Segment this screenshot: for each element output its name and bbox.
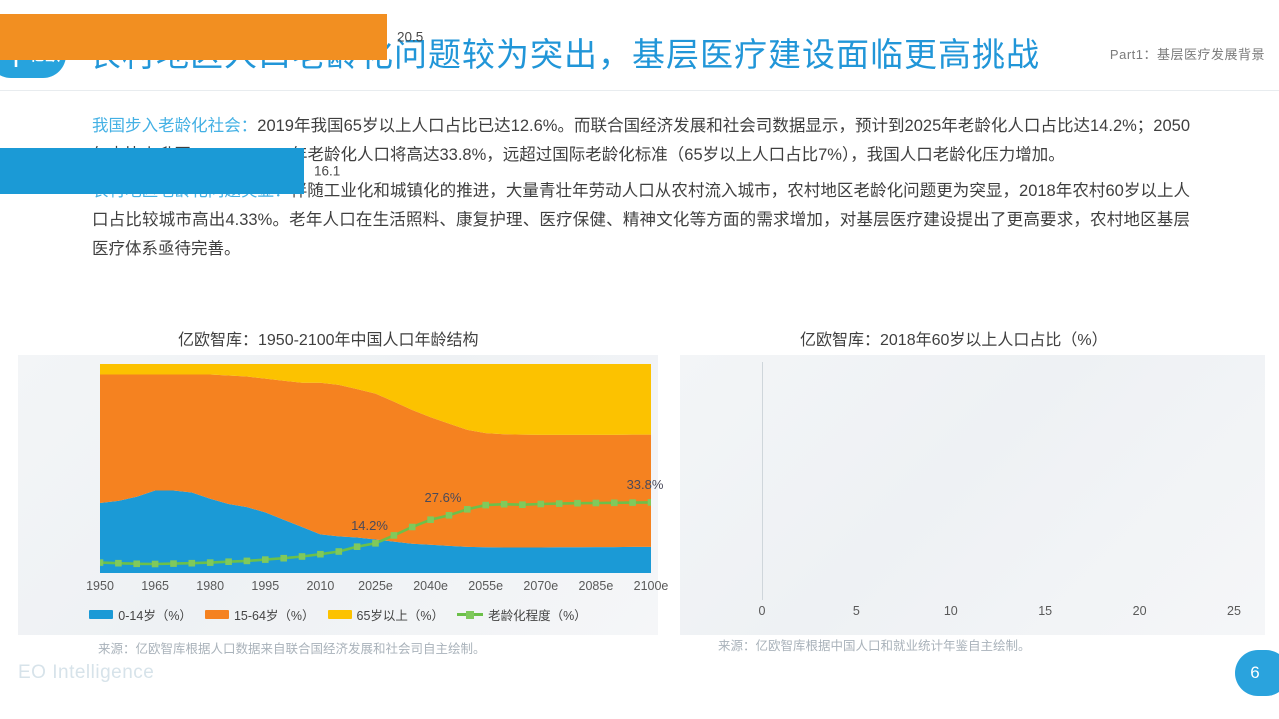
section-label: Part1：基层医疗发展背景 — [1110, 44, 1265, 63]
right-xtick-10: 10 — [944, 604, 958, 618]
right-chart-title: 亿欧智库：2018年60岁以上人口占比（%） — [800, 326, 1108, 350]
left-xtick-2085e: 2085e — [579, 579, 614, 593]
legend-swatch-icon — [328, 610, 352, 619]
left-chart-panel: 14.2%27.6%33.8% 195019651980199520102025… — [18, 355, 658, 635]
left-xtick-1950: 1950 — [86, 579, 114, 593]
page-number-badge: 6 — [1235, 650, 1279, 696]
right-chart-yaxis-line — [762, 362, 763, 600]
left-chart-legend: 0-14岁（%）15-64岁（%）65岁以上（%）老龄化程度（%） — [18, 605, 658, 623]
legend-label: 65岁以上（%） — [357, 605, 445, 624]
bar-value-label-农村: 20.5 — [397, 30, 423, 45]
legend-item-15-64岁（%）: 15-64岁（%） — [205, 605, 315, 624]
footer-brand: EO Intelligence — [18, 662, 154, 684]
area-chart-svg — [100, 364, 651, 573]
left-xtick-2100e: 2100e — [634, 579, 669, 593]
bar-农村 — [0, 14, 387, 60]
right-xtick-25: 25 — [1227, 604, 1241, 618]
legend-item-0-14岁（%）: 0-14岁（%） — [89, 605, 192, 624]
legend-label: 15-64岁（%） — [234, 605, 315, 624]
right-chart-xaxis: 0510152025 — [680, 604, 1279, 622]
legend-swatch-icon — [89, 610, 113, 619]
left-xtick-2040e: 2040e — [413, 579, 448, 593]
left-xtick-2025e: 2025e — [358, 579, 393, 593]
left-chart-title: 亿欧智库：1950-2100年中国人口年龄结构 — [178, 326, 479, 350]
legend-label: 0-14岁（%） — [118, 605, 192, 624]
right-xtick-5: 5 — [853, 604, 860, 618]
right-chart-panel — [680, 355, 1265, 635]
left-xtick-1995: 1995 — [251, 579, 279, 593]
population-age-structure-area-chart — [100, 364, 651, 573]
legend-item-65岁以上（%）: 65岁以上（%） — [328, 605, 445, 624]
area-annotation-27.6: 27.6% — [425, 490, 462, 505]
legend-item-老龄化程度（%）: 老龄化程度（%） — [457, 605, 587, 624]
slide: 亿欧 农村地区人口老龄化问题较为突出，基层医疗建设面临更高挑战 Part1：基层… — [0, 0, 1279, 719]
bar-城镇 — [0, 148, 304, 194]
area-annotation-14.2: 14.2% — [351, 518, 388, 533]
left-xtick-2070e: 2070e — [523, 579, 558, 593]
page-number: 6 — [1250, 663, 1259, 683]
left-xtick-2055e: 2055e — [468, 579, 503, 593]
legend-label: 老龄化程度（%） — [488, 605, 587, 624]
left-chart-source: 来源：亿欧智库根据人口数据来自联合国经济发展和社会司自主绘制。 — [98, 638, 486, 657]
legend-swatch-icon — [205, 610, 229, 619]
right-xtick-0: 0 — [759, 604, 766, 618]
paragraph-1-lead: 我国步入老龄化社会： — [92, 117, 257, 135]
left-xtick-1980: 1980 — [196, 579, 224, 593]
legend-line-swatch-icon — [457, 610, 483, 619]
right-xtick-20: 20 — [1133, 604, 1147, 618]
bar-value-label-城镇: 16.1 — [314, 164, 340, 179]
header-divider — [0, 90, 1279, 91]
left-xtick-1965: 1965 — [141, 579, 169, 593]
left-xtick-2010: 2010 — [306, 579, 334, 593]
right-chart-source: 来源：亿欧智库根据中国人口和就业统计年鉴自主绘制。 — [718, 635, 1031, 654]
area-annotation-33.8: 33.8% — [627, 477, 664, 492]
left-chart-xaxis: 195019651980199520102025e2040e2055e2070e… — [18, 579, 658, 597]
right-xtick-15: 15 — [1038, 604, 1052, 618]
